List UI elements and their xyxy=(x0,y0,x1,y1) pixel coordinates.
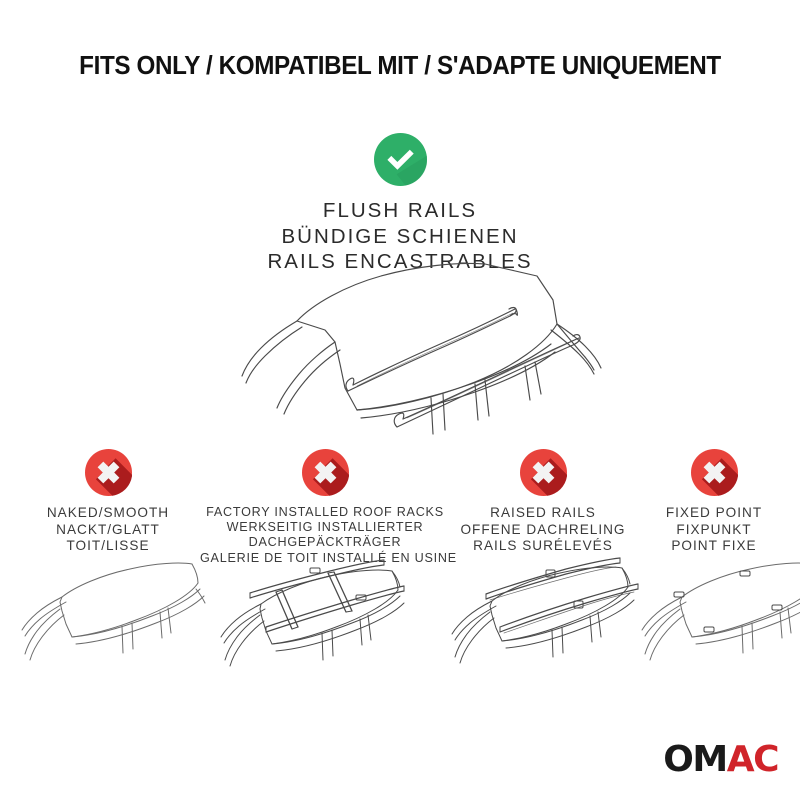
x-circle-icon xyxy=(520,449,567,496)
check-circle-icon xyxy=(374,133,427,186)
incompatible-label-en: FIXED POINT xyxy=(630,505,798,522)
incompatible-labels: NAKED/SMOOTH NACKT/GLATT TOIT/LISSE xyxy=(4,505,212,555)
incompatible-label-de: OFFENE DACHRELING xyxy=(440,522,646,539)
car-roof-flush-rails-illustration xyxy=(185,258,625,453)
incompatible-labels: FIXED POINT FIXPUNKT POINT FIXE xyxy=(630,505,798,555)
incompatible-label-de-2: DACHGEPÄCKTRÄGER xyxy=(200,535,450,550)
incompatible-label-en: FACTORY INSTALLED ROOF RACKS xyxy=(200,505,450,520)
car-roof-factory-rack-illustration xyxy=(206,557,414,692)
compatible-section: FLUSH RAILS BÜNDIGE SCHIENEN RAILS ENCAS… xyxy=(0,133,800,275)
compatible-label-en: FLUSH RAILS xyxy=(0,198,800,224)
incompatible-labels: RAISED RAILS OFFENE DACHRELING RAILS SUR… xyxy=(440,505,646,555)
omac-logo: OMAC xyxy=(663,742,778,778)
incompatible-label-de-1: WERKSEITIG INSTALLIERTER xyxy=(200,520,450,535)
x-circle-icon xyxy=(691,449,738,496)
car-roof-naked-illustration xyxy=(10,553,206,688)
incompatible-item-raised-rails: RAISED RAILS OFFENE DACHRELING RAILS SUR… xyxy=(440,449,646,555)
incompatible-label-de: NACKT/GLATT xyxy=(4,522,212,539)
page-title: FITS ONLY / KOMPATIBEL MIT / S'ADAPTE UN… xyxy=(20,52,780,81)
x-circle-icon xyxy=(85,449,132,496)
car-roof-fixed-point-illustration xyxy=(630,553,800,688)
x-circle-icon xyxy=(302,449,349,496)
incompatible-label-en: NAKED/SMOOTH xyxy=(4,505,212,522)
omac-logo-part-2: AC xyxy=(727,739,778,780)
incompatible-label-de: FIXPUNKT xyxy=(630,522,798,539)
incompatible-label-en: RAISED RAILS xyxy=(440,505,646,522)
omac-logo-part-1: OM xyxy=(663,739,726,780)
incompatible-section: NAKED/SMOOTH NACKT/GLATT TOIT/LISSE xyxy=(0,449,800,759)
car-roof-raised-rails-illustration xyxy=(434,553,640,688)
incompatible-item-naked-smooth: NAKED/SMOOTH NACKT/GLATT TOIT/LISSE xyxy=(4,449,212,555)
product-fitment-infographic: FITS ONLY / KOMPATIBEL MIT / S'ADAPTE UN… xyxy=(0,0,800,800)
incompatible-item-factory-installed-roof-racks: FACTORY INSTALLED ROOF RACKS WERKSEITIG … xyxy=(200,449,450,566)
incompatible-item-fixed-point: FIXED POINT FIXPUNKT POINT FIXE xyxy=(630,449,798,555)
compatible-label-de: BÜNDIGE SCHIENEN xyxy=(0,224,800,250)
